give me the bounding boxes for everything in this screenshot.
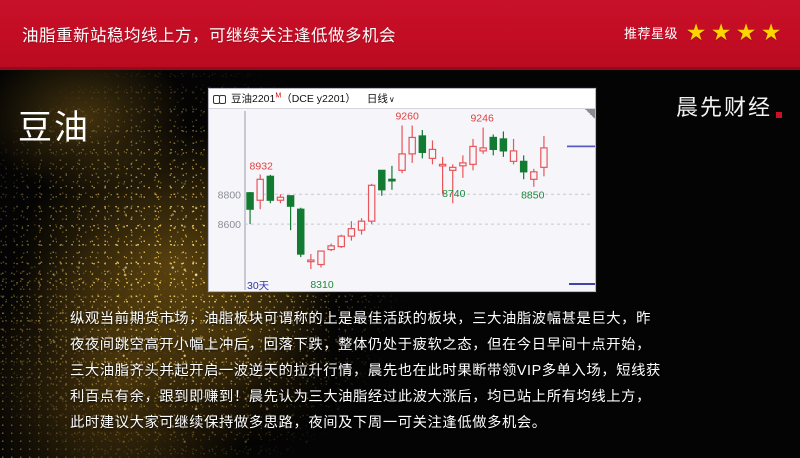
candle xyxy=(531,172,537,179)
chart-period-selector[interactable]: 日线∨ xyxy=(367,91,395,106)
rating-block: 推荐星级 ★★★★ xyxy=(624,22,782,43)
candle xyxy=(450,167,456,170)
axis-tick-label: 8600 xyxy=(218,219,242,231)
candle xyxy=(308,260,314,262)
rating-stars: ★★★★ xyxy=(685,22,782,43)
chart-symbol-label: 豆油2201M（DCE y2201） xyxy=(231,91,356,106)
candle xyxy=(358,221,364,230)
header-bar: 油脂重新站稳均线上方，可继续关注逢低做多机会 推荐星级 ★★★★ xyxy=(0,0,800,70)
price-annotation: 8932 xyxy=(250,161,274,173)
candle xyxy=(328,246,334,250)
article-line: 纵观当前期货市场，油脂板块可谓称的上是最佳活跃的板块，三大油脂波幅甚是巨大，昨 xyxy=(70,306,760,332)
candle xyxy=(287,196,293,206)
candle xyxy=(500,139,506,151)
candle xyxy=(399,154,405,170)
candle xyxy=(510,151,516,161)
candle xyxy=(348,229,354,236)
chevron-down-icon: ∨ xyxy=(389,95,395,104)
candle xyxy=(409,137,415,153)
candle xyxy=(439,164,445,166)
chart-toolbar[interactable]: 豆油2201M（DCE y2201） 日线∨ xyxy=(209,89,595,109)
chart-corner-fold-icon xyxy=(585,109,595,119)
candle xyxy=(419,136,425,152)
candle xyxy=(480,148,486,151)
article-line: 此时建议大家可继续保持做多思路，夜间及下周一可关注逢低做多机会。 xyxy=(70,410,760,436)
candle xyxy=(298,209,304,254)
candle xyxy=(521,161,527,171)
article-line: 三大油脂齐头并起开启一波逆天的拉升行情，晨先也在此时果断带领VIP多单入场，短线… xyxy=(70,358,760,384)
chart-window[interactable]: 豆油2201M（DCE y2201） 日线∨ 88008600893283109… xyxy=(208,88,596,292)
star-icon: ★ xyxy=(685,22,707,43)
link-icon xyxy=(213,95,226,102)
chart-plot-area[interactable]: 8800860089328310926087409246885030天 xyxy=(209,109,595,292)
price-annotation: 8850 xyxy=(521,189,545,201)
candle xyxy=(460,163,466,166)
candle xyxy=(257,179,263,200)
candlestick-chart: 8800860089328310926087409246885030天 xyxy=(209,109,595,292)
price-annotation: 9246 xyxy=(470,113,494,125)
candle xyxy=(369,185,375,221)
brand-name: 晨先财经 xyxy=(676,90,772,122)
article-line: 夜夜间跳空高开小幅上冲后，回落下跌，整体仍处于疲软之态，但在今日早间十点开始， xyxy=(70,332,760,358)
price-annotation: 8740 xyxy=(442,188,466,200)
star-icon: ★ xyxy=(735,22,757,43)
candle xyxy=(338,236,344,246)
candle xyxy=(267,176,273,200)
chart-range-label: 30天 xyxy=(247,280,270,292)
candle xyxy=(389,179,395,181)
product-title: 豆油 xyxy=(18,100,90,149)
star-icon: ★ xyxy=(710,22,732,43)
candle xyxy=(318,251,324,264)
candle xyxy=(379,170,385,189)
chart-symbol-code: （DCE y2201） xyxy=(281,93,356,105)
content-stage: 豆油 晨先财经 豆油2201M（DCE y2201） 日线∨ 880086008… xyxy=(0,70,800,458)
candle xyxy=(541,148,547,167)
candle xyxy=(429,149,435,158)
candle xyxy=(277,197,283,200)
article-body: 纵观当前期货市场，油脂板块可谓称的上是最佳活跃的板块，三大油脂波幅甚是巨大，昨夜… xyxy=(70,306,760,436)
article-line: 利百点有余，跟到即赚到！晨先认为三大油脂经过此波大涨后，均已站上所有均线上方， xyxy=(70,384,760,410)
candle xyxy=(490,137,496,149)
axis-tick-label: 8800 xyxy=(218,189,242,201)
candle xyxy=(470,146,476,164)
page-title: 油脂重新站稳均线上方，可继续关注逢低做多机会 xyxy=(22,22,396,46)
brand-dot-icon xyxy=(776,112,782,118)
rating-label: 推荐星级 xyxy=(624,23,678,42)
price-annotation: 9260 xyxy=(395,110,419,122)
brand-logo: 晨先财经 xyxy=(676,90,782,122)
price-annotation: 8310 xyxy=(310,279,334,291)
chart-symbol-main: 豆油2201 xyxy=(231,93,275,105)
candle xyxy=(247,193,253,209)
chart-period-label: 日线 xyxy=(367,93,388,105)
star-icon: ★ xyxy=(760,22,782,43)
